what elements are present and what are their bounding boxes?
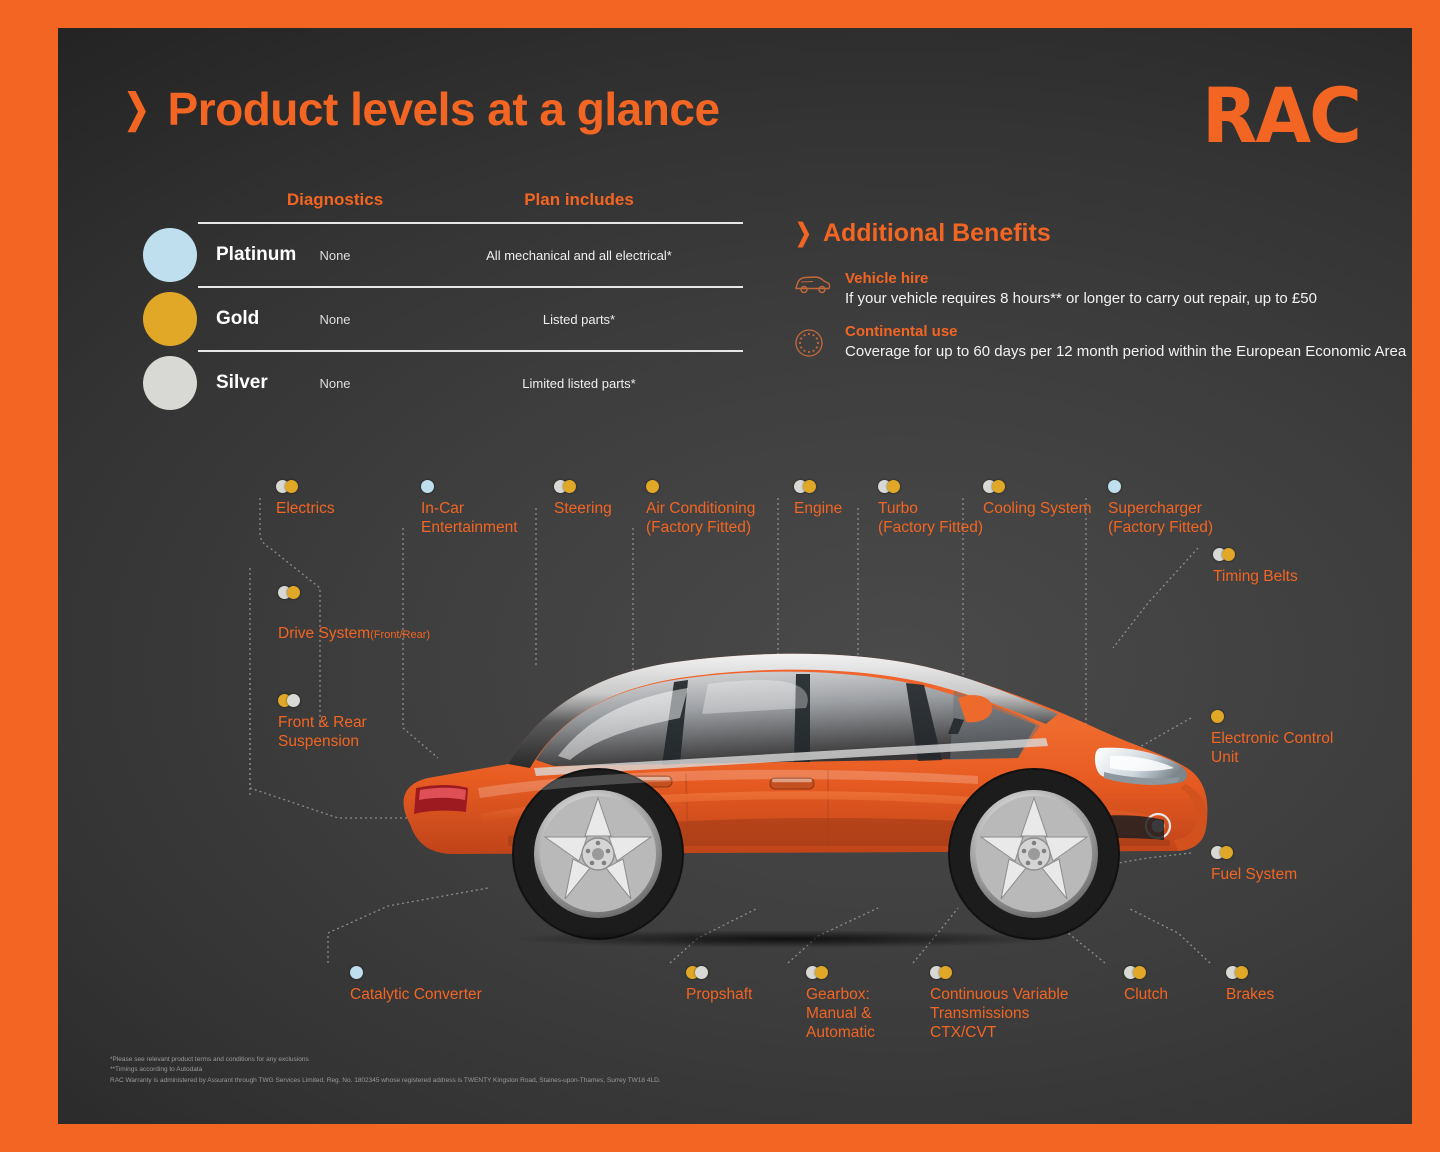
product-levels-table: Diagnostics Plan includes Platinum None … [143, 190, 743, 414]
callout-label: Gearbox: Manual & Automatic [806, 986, 875, 1043]
level-dots [350, 966, 482, 979]
callout-label: Turbo [878, 500, 983, 519]
level-dots [1213, 548, 1298, 561]
level-dots [646, 480, 755, 493]
callout-label: Clutch [1124, 986, 1168, 1005]
level-dots [794, 480, 842, 493]
level-dots [930, 966, 1068, 979]
callout-label: Air Conditioning [646, 500, 755, 519]
callout-label: Electrics [276, 500, 335, 519]
footer-line-2: **Timings according to Autodata [110, 1065, 661, 1075]
level-name-silver: Silver [216, 372, 268, 394]
callout-front-rear-suspension: Front & Rear Suspension [278, 694, 367, 752]
callout-brakes: Brakes [1226, 966, 1274, 1005]
page-title: Product levels at a glance [168, 86, 720, 132]
page-header: ❯ Product levels at a glance [120, 86, 720, 132]
level-dots [983, 480, 1092, 493]
callout-label: In-Car Entertainment [421, 500, 518, 538]
callout-turbo: Turbo (Factory Fitted) [878, 480, 983, 538]
callout-engine: Engine [794, 480, 842, 519]
column-header-plan-includes: Plan includes [415, 190, 743, 210]
callout-sublabel: (Factory Fitted) [878, 519, 983, 538]
callout-gearbox: Gearbox: Manual & Automatic [806, 966, 875, 1043]
callout-catalytic-converter: Catalytic Converter [350, 966, 482, 1005]
footer-line-1: *Please see relevant product terms and c… [110, 1055, 661, 1065]
level-dots [878, 480, 983, 493]
callout-label: Timing Belts [1213, 568, 1298, 587]
car-shadow [388, 926, 1188, 952]
callout-continuous-variable-transmissions: Continuous Variable Transmissions CTX/CV… [930, 966, 1068, 1043]
level-swatch-gold [143, 292, 197, 346]
callout-label: Front & Rear Suspension [278, 714, 367, 752]
callout-electrics: Electrics [276, 480, 335, 519]
callout-label: Supercharger [1108, 500, 1213, 519]
callout-sublabel: (Factory Fitted) [646, 519, 755, 538]
level-name-platinum: Platinum [216, 244, 296, 266]
callout-label: Drive System [278, 625, 370, 642]
level-swatch-silver [143, 356, 197, 410]
callout-label: Engine [794, 500, 842, 519]
level-dots [806, 966, 875, 979]
callout-clutch: Clutch [1124, 966, 1168, 1005]
level-plan-platinum: All mechanical and all electrical* [415, 248, 743, 263]
callout-supercharger: Supercharger (Factory Fitted) [1108, 480, 1213, 538]
level-dots [276, 480, 335, 493]
poster-frame: ❯ Product levels at a glance RAC Diagnos… [0, 0, 1440, 1152]
callout-label: Brakes [1226, 986, 1274, 1005]
footer-line-3: RAC Warranty is administered by Assurant… [110, 1076, 661, 1086]
callout-label: Electronic Control Unit [1211, 730, 1333, 768]
level-name-gold: Gold [216, 308, 259, 330]
car-icon [793, 270, 831, 309]
callout-sublabel: (Factory Fitted) [1108, 519, 1213, 538]
benefit-item-vehicle-hire: Vehicle hire If your vehicle requires 8 … [793, 270, 1412, 309]
car-illustration [358, 588, 1218, 948]
callout-label: Continuous Variable Transmissions [930, 986, 1068, 1024]
benefit-description: Coverage for up to 60 days per 12 month … [845, 342, 1406, 362]
callout-label: Fuel System [1211, 866, 1297, 885]
callout-label: Steering [554, 500, 612, 519]
benefits-heading-text: Additional Benefits [823, 219, 1051, 248]
callout-in-car-entertainment: In-Car Entertainment [421, 480, 518, 538]
callout-air-conditioning: Air Conditioning (Factory Fitted) [646, 480, 755, 538]
callout-cooling-system: Cooling System [983, 480, 1092, 519]
level-diagnostics-gold: None [255, 312, 415, 327]
benefit-item-continental-use: Continental use Coverage for up to 60 da… [793, 323, 1412, 362]
chevron-right-icon: ❯ [124, 89, 150, 129]
callout-fuel-system: Fuel System [1211, 846, 1297, 885]
benefit-description: If your vehicle requires 8 hours** or lo… [845, 289, 1317, 309]
level-dots [421, 480, 518, 493]
callout-sublabel: (Front/Rear) [370, 629, 430, 641]
level-swatch-platinum [143, 228, 197, 282]
level-diagnostics-silver: None [255, 376, 415, 391]
benefits-heading: ❯ Additional Benefits [793, 218, 1412, 248]
footer-disclaimer: *Please see relevant product terms and c… [110, 1055, 661, 1086]
level-dots [1124, 966, 1168, 979]
level-dots [686, 966, 752, 979]
level-plan-silver: Limited listed parts* [415, 376, 743, 391]
callout-propshaft: Propshaft [686, 966, 752, 1005]
callout-label: Cooling System [983, 500, 1092, 519]
rac-logo: RAC [1202, 78, 1360, 154]
benefit-title: Vehicle hire [845, 270, 1317, 287]
callout-steering: Steering [554, 480, 612, 519]
chevron-right-icon: ❯ [795, 218, 811, 248]
level-dots [554, 480, 612, 493]
callout-drive-system: Drive System(Front/Rear) [278, 586, 430, 644]
table-row: Platinum None All mechanical and all ele… [143, 224, 743, 286]
level-plan-gold: Listed parts* [415, 312, 743, 327]
eu-stars-icon [793, 323, 831, 362]
column-header-diagnostics: Diagnostics [255, 190, 415, 210]
table-row: Silver None Limited listed parts* [143, 352, 743, 414]
level-dots [1211, 710, 1333, 723]
benefit-title: Continental use [845, 323, 1406, 340]
callout-electronic-control-unit: Electronic Control Unit [1211, 710, 1333, 768]
table-row: Gold None Listed parts* [143, 288, 743, 350]
level-dots [278, 586, 430, 599]
callout-sublabel: CTX/CVT [930, 1024, 1068, 1043]
callout-label: Catalytic Converter [350, 986, 482, 1005]
callout-label: Propshaft [686, 986, 752, 1005]
callout-timing-belts: Timing Belts [1213, 548, 1298, 587]
level-dots [278, 694, 367, 707]
level-dots [1211, 846, 1297, 859]
level-dots [1108, 480, 1213, 493]
additional-benefits-section: ❯ Additional Benefits Vehicle hire If yo… [793, 218, 1412, 376]
poster-panel: ❯ Product levels at a glance RAC Diagnos… [58, 28, 1412, 1124]
level-dots [1226, 966, 1274, 979]
table-header-row: Diagnostics Plan includes [143, 190, 743, 210]
